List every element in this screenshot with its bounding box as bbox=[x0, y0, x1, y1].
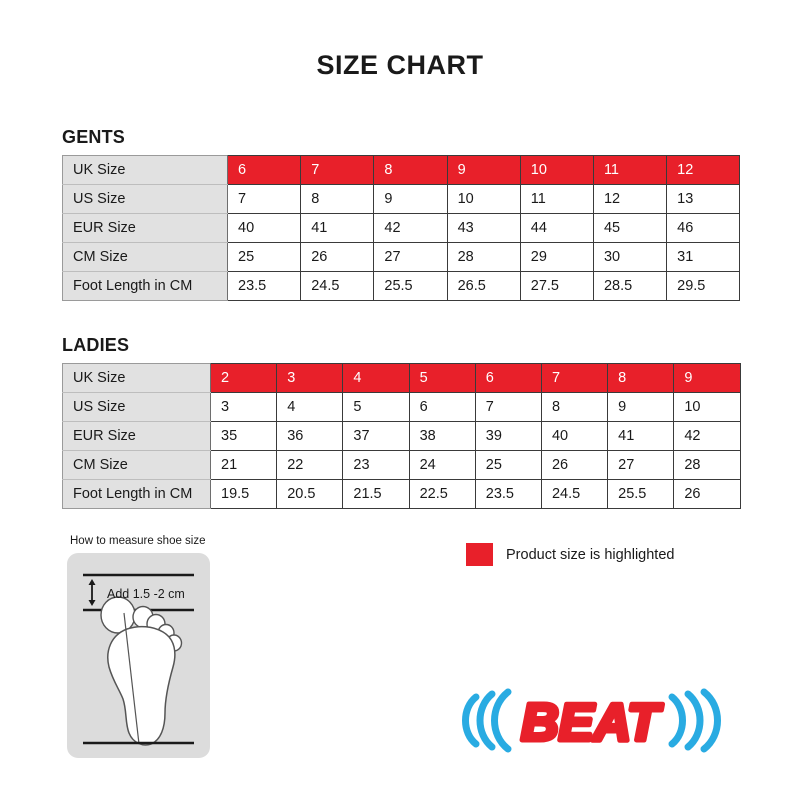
size-cell: 9 bbox=[374, 185, 447, 214]
size-cell: 5 bbox=[343, 393, 409, 422]
size-cell-highlighted: 7 bbox=[541, 364, 607, 393]
size-cell: 21 bbox=[211, 451, 277, 480]
size-cell: 3 bbox=[211, 393, 277, 422]
size-cell: 21.5 bbox=[343, 480, 409, 509]
size-cell: 25 bbox=[475, 451, 541, 480]
size-cell-highlighted: 9 bbox=[674, 364, 740, 393]
table-row: EUR Size3536373839404142 bbox=[63, 422, 741, 451]
table-row: CM Size25262728293031 bbox=[63, 243, 740, 272]
foot-measure-diagram: Add 1.5 -2 cm bbox=[67, 553, 210, 758]
ladies-table-body: UK Size23456789US Size345678910EUR Size3… bbox=[63, 364, 741, 509]
legend-label: Product size is highlighted bbox=[506, 547, 674, 563]
table-row: Foot Length in CM19.520.521.522.523.524.… bbox=[63, 480, 741, 509]
size-cell: 27 bbox=[608, 451, 674, 480]
size-cell: 35 bbox=[211, 422, 277, 451]
size-cell: 31 bbox=[667, 243, 740, 272]
size-cell: 22.5 bbox=[409, 480, 475, 509]
size-cell: 46 bbox=[667, 214, 740, 243]
size-cell: 27 bbox=[374, 243, 447, 272]
footprint-illustration: Add 1.5 -2 cm bbox=[67, 553, 210, 758]
size-cell: 30 bbox=[593, 243, 666, 272]
gents-table-body: UK Size6789101112US Size78910111213EUR S… bbox=[63, 156, 740, 301]
logo-wordmark: BEAT bbox=[521, 694, 663, 752]
size-cell: 42 bbox=[674, 422, 740, 451]
add-length-annotation: Add 1.5 -2 cm bbox=[107, 587, 185, 601]
size-cell-highlighted: 8 bbox=[374, 156, 447, 185]
size-cell: 22 bbox=[277, 451, 343, 480]
size-cell: 36 bbox=[277, 422, 343, 451]
size-cell: 23 bbox=[343, 451, 409, 480]
how-to-measure-caption: How to measure shoe size bbox=[70, 535, 206, 547]
size-cell: 25 bbox=[228, 243, 301, 272]
size-cell-highlighted: 5 bbox=[409, 364, 475, 393]
size-cell-highlighted: 2 bbox=[211, 364, 277, 393]
size-cell: 10 bbox=[447, 185, 520, 214]
legend-color-swatch bbox=[466, 543, 493, 566]
table-row: UK Size6789101112 bbox=[63, 156, 740, 185]
gents-section-label: GENTS bbox=[62, 127, 800, 148]
size-cell: 12 bbox=[593, 185, 666, 214]
size-cell: 26.5 bbox=[447, 272, 520, 301]
size-cell: 41 bbox=[608, 422, 674, 451]
row-label: US Size bbox=[63, 393, 211, 422]
size-cell: 24.5 bbox=[541, 480, 607, 509]
size-cell: 41 bbox=[301, 214, 374, 243]
size-cell: 29.5 bbox=[667, 272, 740, 301]
bottom-section: How to measure shoe size Add 1.5 -2 cm bbox=[0, 535, 800, 780]
size-cell: 45 bbox=[593, 214, 666, 243]
size-cell-highlighted: 12 bbox=[667, 156, 740, 185]
size-cell: 37 bbox=[343, 422, 409, 451]
gents-size-table: UK Size6789101112US Size78910111213EUR S… bbox=[62, 155, 740, 301]
size-cell: 8 bbox=[541, 393, 607, 422]
size-cell: 28.5 bbox=[593, 272, 666, 301]
size-cell: 20.5 bbox=[277, 480, 343, 509]
size-cell-highlighted: 10 bbox=[520, 156, 593, 185]
size-cell: 25.5 bbox=[608, 480, 674, 509]
table-row: UK Size23456789 bbox=[63, 364, 741, 393]
size-cell: 38 bbox=[409, 422, 475, 451]
size-cell: 28 bbox=[674, 451, 740, 480]
size-cell: 26 bbox=[541, 451, 607, 480]
size-cell-highlighted: 9 bbox=[447, 156, 520, 185]
size-cell-highlighted: 4 bbox=[343, 364, 409, 393]
ladies-section-label: LADIES bbox=[62, 335, 800, 356]
row-label: CM Size bbox=[63, 243, 228, 272]
size-cell-highlighted: 6 bbox=[475, 364, 541, 393]
size-cell: 24.5 bbox=[301, 272, 374, 301]
size-cell: 23.5 bbox=[475, 480, 541, 509]
row-label: EUR Size bbox=[63, 214, 228, 243]
size-cell: 8 bbox=[301, 185, 374, 214]
size-cell: 26 bbox=[301, 243, 374, 272]
size-cell-highlighted: 6 bbox=[228, 156, 301, 185]
row-label: UK Size bbox=[63, 156, 228, 185]
size-cell-highlighted: 3 bbox=[277, 364, 343, 393]
size-cell: 13 bbox=[667, 185, 740, 214]
size-cell: 11 bbox=[520, 185, 593, 214]
size-cell: 6 bbox=[409, 393, 475, 422]
legend: Product size is highlighted bbox=[466, 543, 674, 566]
table-row: Foot Length in CM23.524.525.526.527.528.… bbox=[63, 272, 740, 301]
size-chart-page: SIZE CHART GENTS UK Size6789101112US Siz… bbox=[0, 50, 800, 800]
row-label: US Size bbox=[63, 185, 228, 214]
size-cell: 27.5 bbox=[520, 272, 593, 301]
size-cell: 4 bbox=[277, 393, 343, 422]
row-label: EUR Size bbox=[63, 422, 211, 451]
size-cell: 7 bbox=[475, 393, 541, 422]
size-cell: 40 bbox=[541, 422, 607, 451]
row-label: Foot Length in CM bbox=[63, 480, 211, 509]
size-cell: 26 bbox=[674, 480, 740, 509]
beat-brand-logo: BEAT bbox=[440, 683, 740, 758]
table-row: EUR Size40414243444546 bbox=[63, 214, 740, 243]
row-label: UK Size bbox=[63, 364, 211, 393]
ladies-size-table: UK Size23456789US Size345678910EUR Size3… bbox=[62, 363, 741, 509]
size-cell-highlighted: 7 bbox=[301, 156, 374, 185]
size-cell-highlighted: 8 bbox=[608, 364, 674, 393]
size-cell: 25.5 bbox=[374, 272, 447, 301]
size-cell-highlighted: 11 bbox=[593, 156, 666, 185]
size-cell: 43 bbox=[447, 214, 520, 243]
size-cell: 28 bbox=[447, 243, 520, 272]
size-cell: 42 bbox=[374, 214, 447, 243]
table-row: US Size78910111213 bbox=[63, 185, 740, 214]
size-cell: 19.5 bbox=[211, 480, 277, 509]
size-cell: 23.5 bbox=[228, 272, 301, 301]
size-cell: 44 bbox=[520, 214, 593, 243]
size-cell: 10 bbox=[674, 393, 740, 422]
size-cell: 40 bbox=[228, 214, 301, 243]
size-cell: 39 bbox=[475, 422, 541, 451]
page-title: SIZE CHART bbox=[0, 50, 800, 81]
table-row: US Size345678910 bbox=[63, 393, 741, 422]
size-cell: 9 bbox=[608, 393, 674, 422]
table-row: CM Size2122232425262728 bbox=[63, 451, 741, 480]
row-label: Foot Length in CM bbox=[63, 272, 228, 301]
size-cell: 24 bbox=[409, 451, 475, 480]
size-cell: 7 bbox=[228, 185, 301, 214]
size-cell: 29 bbox=[520, 243, 593, 272]
row-label: CM Size bbox=[63, 451, 211, 480]
